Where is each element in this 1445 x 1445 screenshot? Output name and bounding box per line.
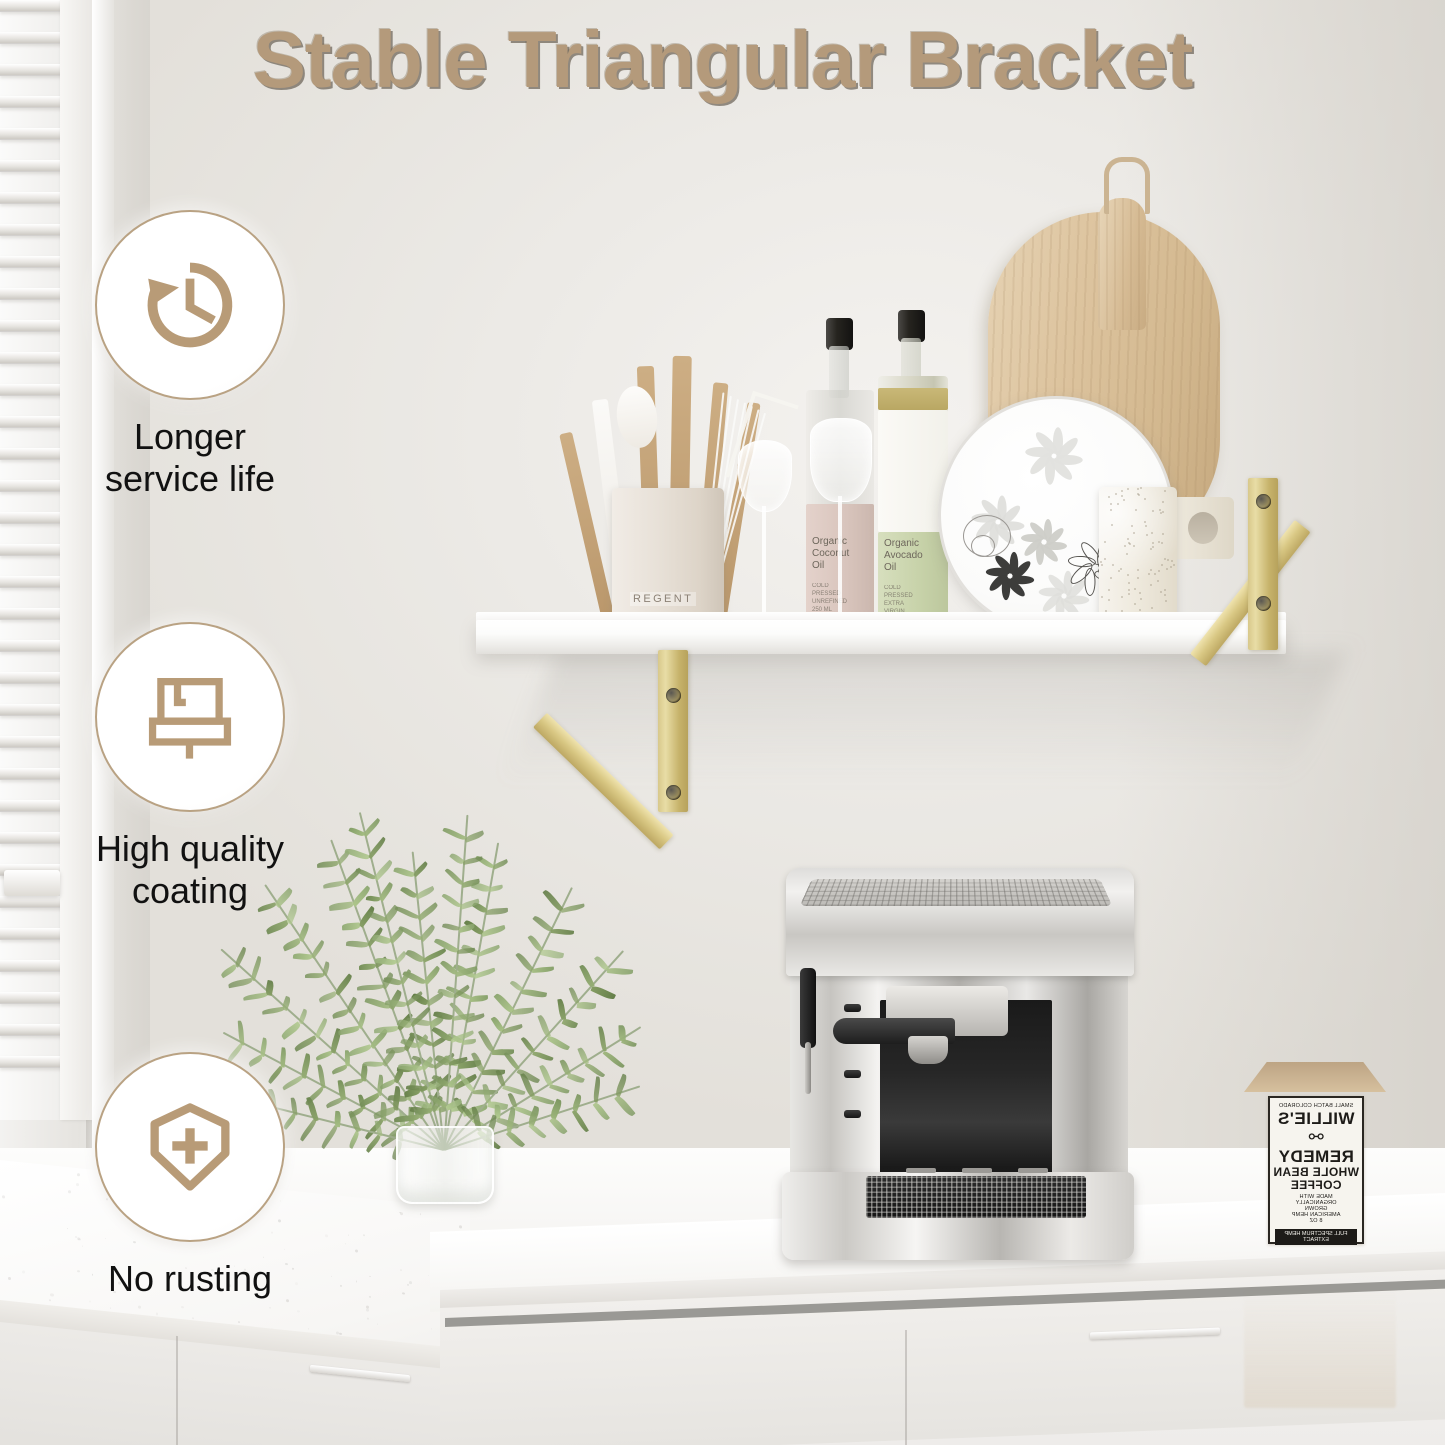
countertop-speck — [297, 1310, 300, 1313]
glass-vase — [396, 1126, 494, 1204]
countertop-speck — [22, 1270, 25, 1273]
mug-speckle — [1158, 570, 1160, 572]
mug-speckle — [1167, 559, 1169, 561]
feature-label: No rusting — [40, 1258, 340, 1300]
feature-badge[interactable] — [95, 210, 285, 400]
cup-warming-grill — [800, 879, 1113, 906]
countertop-speck — [402, 1292, 404, 1295]
mug-speckle — [1110, 509, 1112, 511]
mug-speckle — [1145, 525, 1147, 527]
steam-wand-tip — [805, 1042, 811, 1094]
mug-speckle — [1164, 594, 1166, 596]
mug-speckle — [1108, 589, 1110, 591]
product-feature-image: REGENT Organic Coconut Oil COLD PRESSED … — [0, 0, 1445, 1445]
mug-speckle — [1137, 569, 1139, 571]
plate-circle-doodle — [971, 535, 995, 557]
mug-speckle — [1173, 564, 1175, 566]
glass-stem — [762, 506, 766, 616]
plate-daisy-motif — [1049, 455, 1050, 456]
mug-speckle — [1134, 588, 1136, 590]
drip-tray-bar — [906, 1168, 936, 1173]
feature-label-line1: Longer — [40, 416, 340, 458]
shelf-drop-shadow — [504, 652, 1347, 782]
mug-speckle — [1146, 534, 1148, 536]
coffee-bag-top-fold — [1244, 1062, 1386, 1092]
countertop-speck — [428, 1275, 429, 1276]
plate-daisy-motif — [1039, 541, 1040, 542]
mug-speckle — [1158, 541, 1160, 543]
countertop-speck — [409, 1281, 412, 1284]
countertop-speck — [110, 1308, 111, 1309]
utensil-crock: REGENT — [612, 488, 724, 626]
mug-speckle — [1133, 545, 1135, 547]
mug-speckle — [1139, 609, 1141, 611]
countertop-speck — [345, 1243, 346, 1244]
page-title: Stable Triangular Bracket — [0, 14, 1445, 106]
bag-label-made-with: MADE WITH ORGANICALLY GROWN AMERICAN HEM… — [1291, 1195, 1340, 1219]
plate-outline-daisy — [1089, 567, 1090, 568]
mug-speckle — [1128, 593, 1130, 595]
mug-speckle — [1161, 564, 1163, 566]
mug-speckle — [1144, 498, 1146, 500]
mug-speckle — [1152, 546, 1154, 548]
drip-tray-grate — [866, 1176, 1086, 1218]
mug-speckle — [1144, 521, 1146, 523]
mug-speckle — [1124, 545, 1126, 547]
cutting-board-handle — [1098, 198, 1146, 330]
mug-speckle — [1151, 607, 1153, 609]
mug-speckle — [1137, 493, 1139, 495]
mug-speckle — [1134, 603, 1136, 605]
ceramic-mug — [1099, 487, 1177, 627]
feature-label-line2: coating — [40, 870, 340, 912]
mug-speckle — [1127, 574, 1129, 576]
mug-speckle — [1104, 541, 1106, 543]
mug-speckle — [1164, 558, 1166, 560]
coffee-bag-reflection — [1244, 1288, 1396, 1408]
countertop-speck — [420, 1213, 422, 1215]
bottle-label-line2: Avocado — [884, 550, 923, 562]
mug-speckle — [1108, 599, 1110, 601]
countertop-speck — [2, 1195, 5, 1198]
mug-speckle — [1101, 596, 1103, 598]
bottle-label-line2: Coconut — [812, 548, 849, 560]
feature-label: Longer service life — [40, 416, 340, 501]
bracket-left-screw-bottom — [666, 785, 681, 800]
mug-speckle — [1117, 503, 1119, 505]
mug-handle-hole — [1188, 512, 1218, 544]
mug-speckle — [1150, 569, 1152, 571]
glass-stem — [838, 496, 842, 616]
plate-daisy-motif — [1059, 595, 1060, 596]
mug-speckle — [1166, 568, 1168, 570]
mug-speckle — [1129, 543, 1131, 545]
countertop-speck — [356, 1281, 357, 1282]
feature-high-quality-coating: High quality coating — [40, 622, 340, 913]
cabinet-seam — [905, 1330, 907, 1445]
paint-brush-icon — [138, 665, 242, 769]
countertop-speck — [8, 1277, 11, 1280]
machine-knob-mid[interactable] — [844, 1070, 861, 1078]
countertop-speck — [363, 1234, 365, 1237]
mug-speckle — [1127, 488, 1129, 490]
mug-speckle — [1111, 524, 1113, 526]
mug-speckle — [1164, 589, 1166, 591]
crock-brand-label: REGENT — [630, 592, 696, 606]
mug-speckle — [1128, 582, 1130, 584]
bracket-right-screw-bottom — [1256, 596, 1271, 611]
mug-speckle — [1164, 490, 1166, 492]
mug-speckle — [1101, 564, 1103, 566]
mug-speckle — [1110, 503, 1112, 505]
mug-speckle — [1110, 577, 1112, 579]
bottle-label-upper — [878, 388, 948, 410]
countertop-speck — [308, 1328, 309, 1329]
bracket-right-screw-top — [1256, 494, 1271, 509]
bag-label-product-2: COFFEE — [1290, 1179, 1341, 1192]
portafilter-spout — [908, 1036, 948, 1064]
countertop-speck — [400, 1212, 403, 1215]
countertop-speck — [138, 1306, 141, 1309]
bag-label-brand-1: WILLIE'S — [1278, 1110, 1355, 1128]
mug-speckle — [1157, 580, 1159, 582]
mug-speckle — [1152, 510, 1154, 512]
mug-speckle — [1170, 566, 1172, 568]
countertop-speck — [366, 1308, 369, 1312]
countertop-speck — [431, 1328, 432, 1329]
bottle-label-line3: Oil — [812, 560, 824, 572]
plate-daisy-motif — [1005, 575, 1006, 576]
mug-speckle — [1162, 501, 1164, 503]
mug-speckle — [1126, 553, 1128, 555]
mug-speckle — [1165, 600, 1167, 602]
mug-speckle — [1151, 532, 1153, 534]
mug-speckle — [1140, 487, 1142, 489]
mug-speckle — [1128, 589, 1130, 591]
bag-label-emblem-icon: ⚯ — [1308, 1128, 1323, 1147]
mug-speckle — [1121, 495, 1123, 497]
shutter-frame — [92, 0, 114, 1160]
mug-speckle — [1139, 592, 1141, 594]
coffee-bag-label: SMALL BATCH COLORADO WILLIE'S ⚯ REMEDY W… — [1268, 1096, 1364, 1244]
olive-leaf — [305, 973, 324, 979]
bottle-label-line1: Organic — [884, 538, 919, 550]
countertop-speck — [192, 1317, 194, 1319]
shutter-stile — [60, 0, 94, 1120]
mug-speckle — [1112, 564, 1114, 566]
cabinet-seam — [176, 1336, 178, 1445]
drip-tray-bar — [1018, 1168, 1048, 1173]
mug-speckle — [1161, 542, 1163, 544]
countertop-speck — [269, 1307, 270, 1308]
mug-speckle — [1150, 548, 1152, 550]
countertop-speck — [369, 1275, 371, 1277]
countertop-speck — [459, 1226, 461, 1229]
feature-label-line2: service life — [40, 458, 340, 500]
mug-speckle — [1159, 509, 1161, 511]
mug-speckle — [1150, 584, 1152, 586]
countertop-speck — [156, 1313, 159, 1316]
mug-speckle — [1131, 525, 1133, 527]
countertop-speck — [348, 1234, 349, 1235]
mug-speckle — [1115, 493, 1117, 495]
machine-knob-top[interactable] — [844, 1004, 861, 1012]
feature-badge[interactable] — [95, 622, 285, 812]
mug-speckle — [1162, 511, 1164, 513]
mug-speckle — [1148, 573, 1150, 575]
bag-label-footer-bar: FULL SPECTRUM HEMP EXTRACT — [1275, 1229, 1357, 1245]
countertop-speck — [355, 1249, 358, 1252]
machine-knob-low[interactable] — [844, 1110, 861, 1118]
mug-speckle — [1121, 596, 1123, 598]
feature-label-line1: No rusting — [40, 1258, 340, 1300]
mug-speckle — [1118, 570, 1120, 572]
countertop-speck — [238, 1321, 240, 1323]
mug-speckle — [1160, 512, 1162, 514]
feature-badge[interactable] — [95, 1052, 285, 1242]
mug-speckle — [1108, 496, 1110, 498]
mug-speckle — [1121, 490, 1123, 492]
mug-speckle — [1152, 542, 1154, 544]
countertop-speck — [181, 1306, 183, 1308]
countertop-speck — [367, 1318, 369, 1320]
feature-longer-service-life: Longer service life — [40, 210, 340, 501]
mug-speckle — [1154, 573, 1156, 575]
shield-plus-icon — [138, 1095, 242, 1199]
mug-speckle — [1123, 499, 1125, 501]
mug-speckle — [1140, 598, 1142, 600]
mug-speckle — [1127, 538, 1129, 540]
mug-speckle — [1133, 532, 1135, 534]
history-clock-icon — [135, 250, 245, 360]
glass-bowl — [810, 418, 872, 502]
countertop-speck — [369, 1295, 371, 1297]
mug-speckle — [1160, 591, 1162, 593]
mug-speckle — [1137, 577, 1139, 579]
mug-speckle — [1120, 568, 1122, 570]
countertop-speck — [400, 1269, 402, 1271]
mug-speckle — [1171, 560, 1173, 562]
bag-label-brand-2: REMEDY — [1278, 1148, 1354, 1166]
bracket-left-screw-top — [666, 688, 681, 703]
floating-wall-shelf — [476, 620, 1286, 654]
bottle-label-line3: Oil — [884, 562, 896, 574]
bag-label-weight: 8 OZ — [1309, 1219, 1322, 1225]
countertop-speck — [377, 1323, 378, 1324]
feature-no-rusting: No rusting — [40, 1052, 340, 1300]
countertop-speck — [340, 1284, 342, 1286]
drip-tray-bar — [962, 1168, 992, 1173]
mug-speckle — [1162, 533, 1164, 535]
cutting-board-hanging-loop — [1104, 157, 1150, 214]
mug-speckle — [1135, 509, 1137, 511]
mug-speckle — [1104, 558, 1106, 560]
feature-label-line1: High quality — [40, 828, 340, 870]
feature-label: High quality coating — [40, 828, 340, 913]
steam-wand-sleeve[interactable] — [800, 968, 816, 1048]
